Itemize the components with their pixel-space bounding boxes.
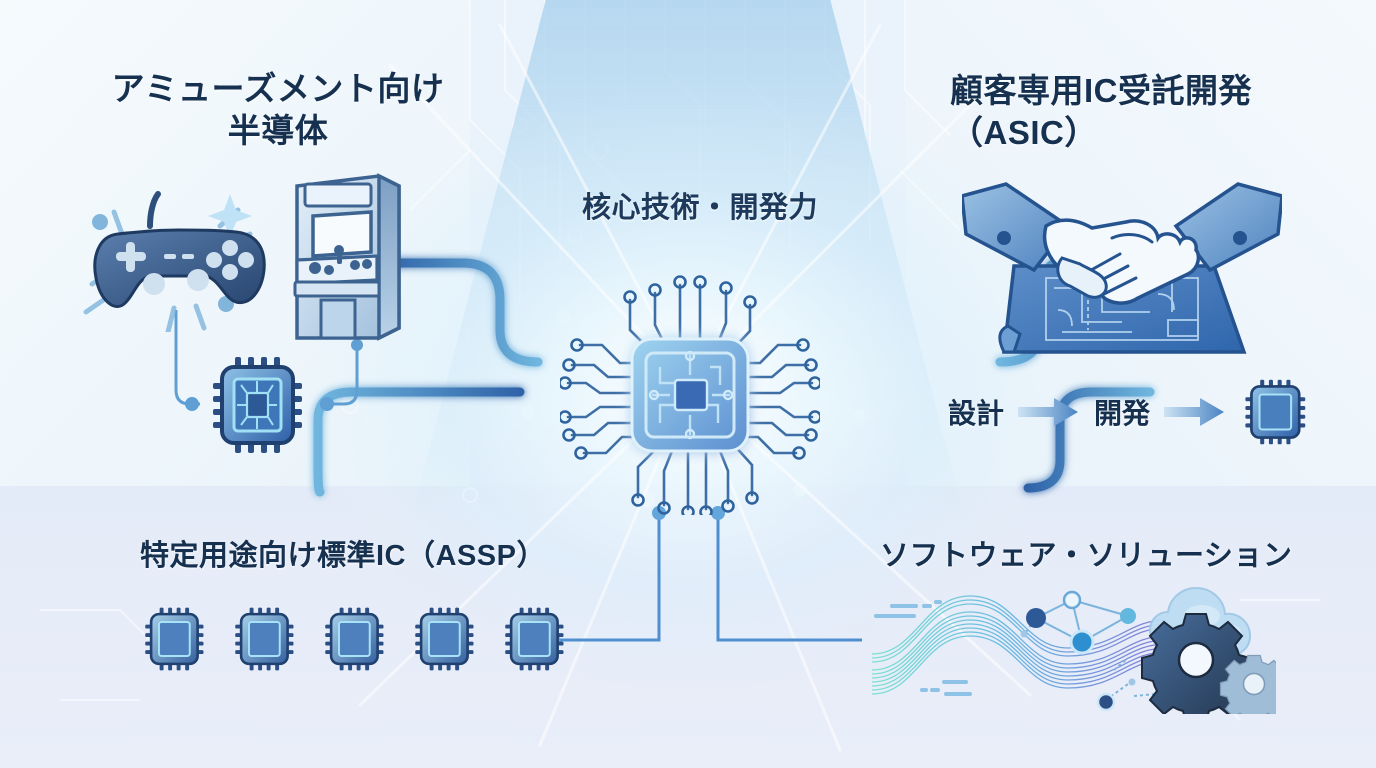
chip-icon <box>500 606 572 672</box>
title-amusement-line1: アミューズメント向け <box>88 68 468 110</box>
right-arrow-icon <box>1164 397 1226 427</box>
asic-process-flow: 設計 開発 <box>948 378 1314 446</box>
title-asic: 顧客専用IC受託開発 （ASIC） <box>950 70 1300 154</box>
chip-icon <box>410 606 482 672</box>
process-step-design: 設計 <box>948 392 1004 432</box>
title-assp: 特定用途向け標準IC（ASSP） <box>140 538 546 575</box>
title-asic-line2: （ASIC） <box>950 112 1300 154</box>
infographic-canvas: アミューズメント向け 半導体 <box>0 0 1376 768</box>
chip-icon <box>1240 378 1314 446</box>
assp-chip-row <box>140 606 572 672</box>
game-controller-icon <box>78 172 288 332</box>
chip-icon <box>230 606 302 672</box>
amusement-link-dot <box>320 397 334 411</box>
connector-bottom-left <box>318 392 520 492</box>
chip-icon <box>140 606 212 672</box>
process-step-development: 開発 <box>1094 392 1150 432</box>
amusement-link-dot <box>185 397 199 411</box>
chip-icon <box>205 355 315 455</box>
title-amusement: アミューズメント向け 半導体 <box>88 68 468 152</box>
title-software-solution: ソフトウェア・ソリューション <box>880 538 1292 575</box>
page-title-core-technology: 核心技術・開発力 <box>520 190 880 227</box>
right-arrow-icon <box>1018 397 1080 427</box>
central-chip-icon <box>560 255 820 515</box>
connector-down-right <box>718 513 862 640</box>
data-dashes <box>876 602 970 694</box>
arcade-cabinet-icon <box>283 168 411 344</box>
signal-wave-icon <box>872 596 1166 694</box>
title-asic-line1: 顧客専用IC受託開発 <box>950 70 1300 112</box>
software-solution-icon <box>866 578 1276 714</box>
chip-icon <box>320 606 392 672</box>
handshake-blueprint-icon <box>962 182 1282 360</box>
gear-icon <box>1142 609 1276 714</box>
title-amusement-line2: 半導体 <box>88 110 468 152</box>
